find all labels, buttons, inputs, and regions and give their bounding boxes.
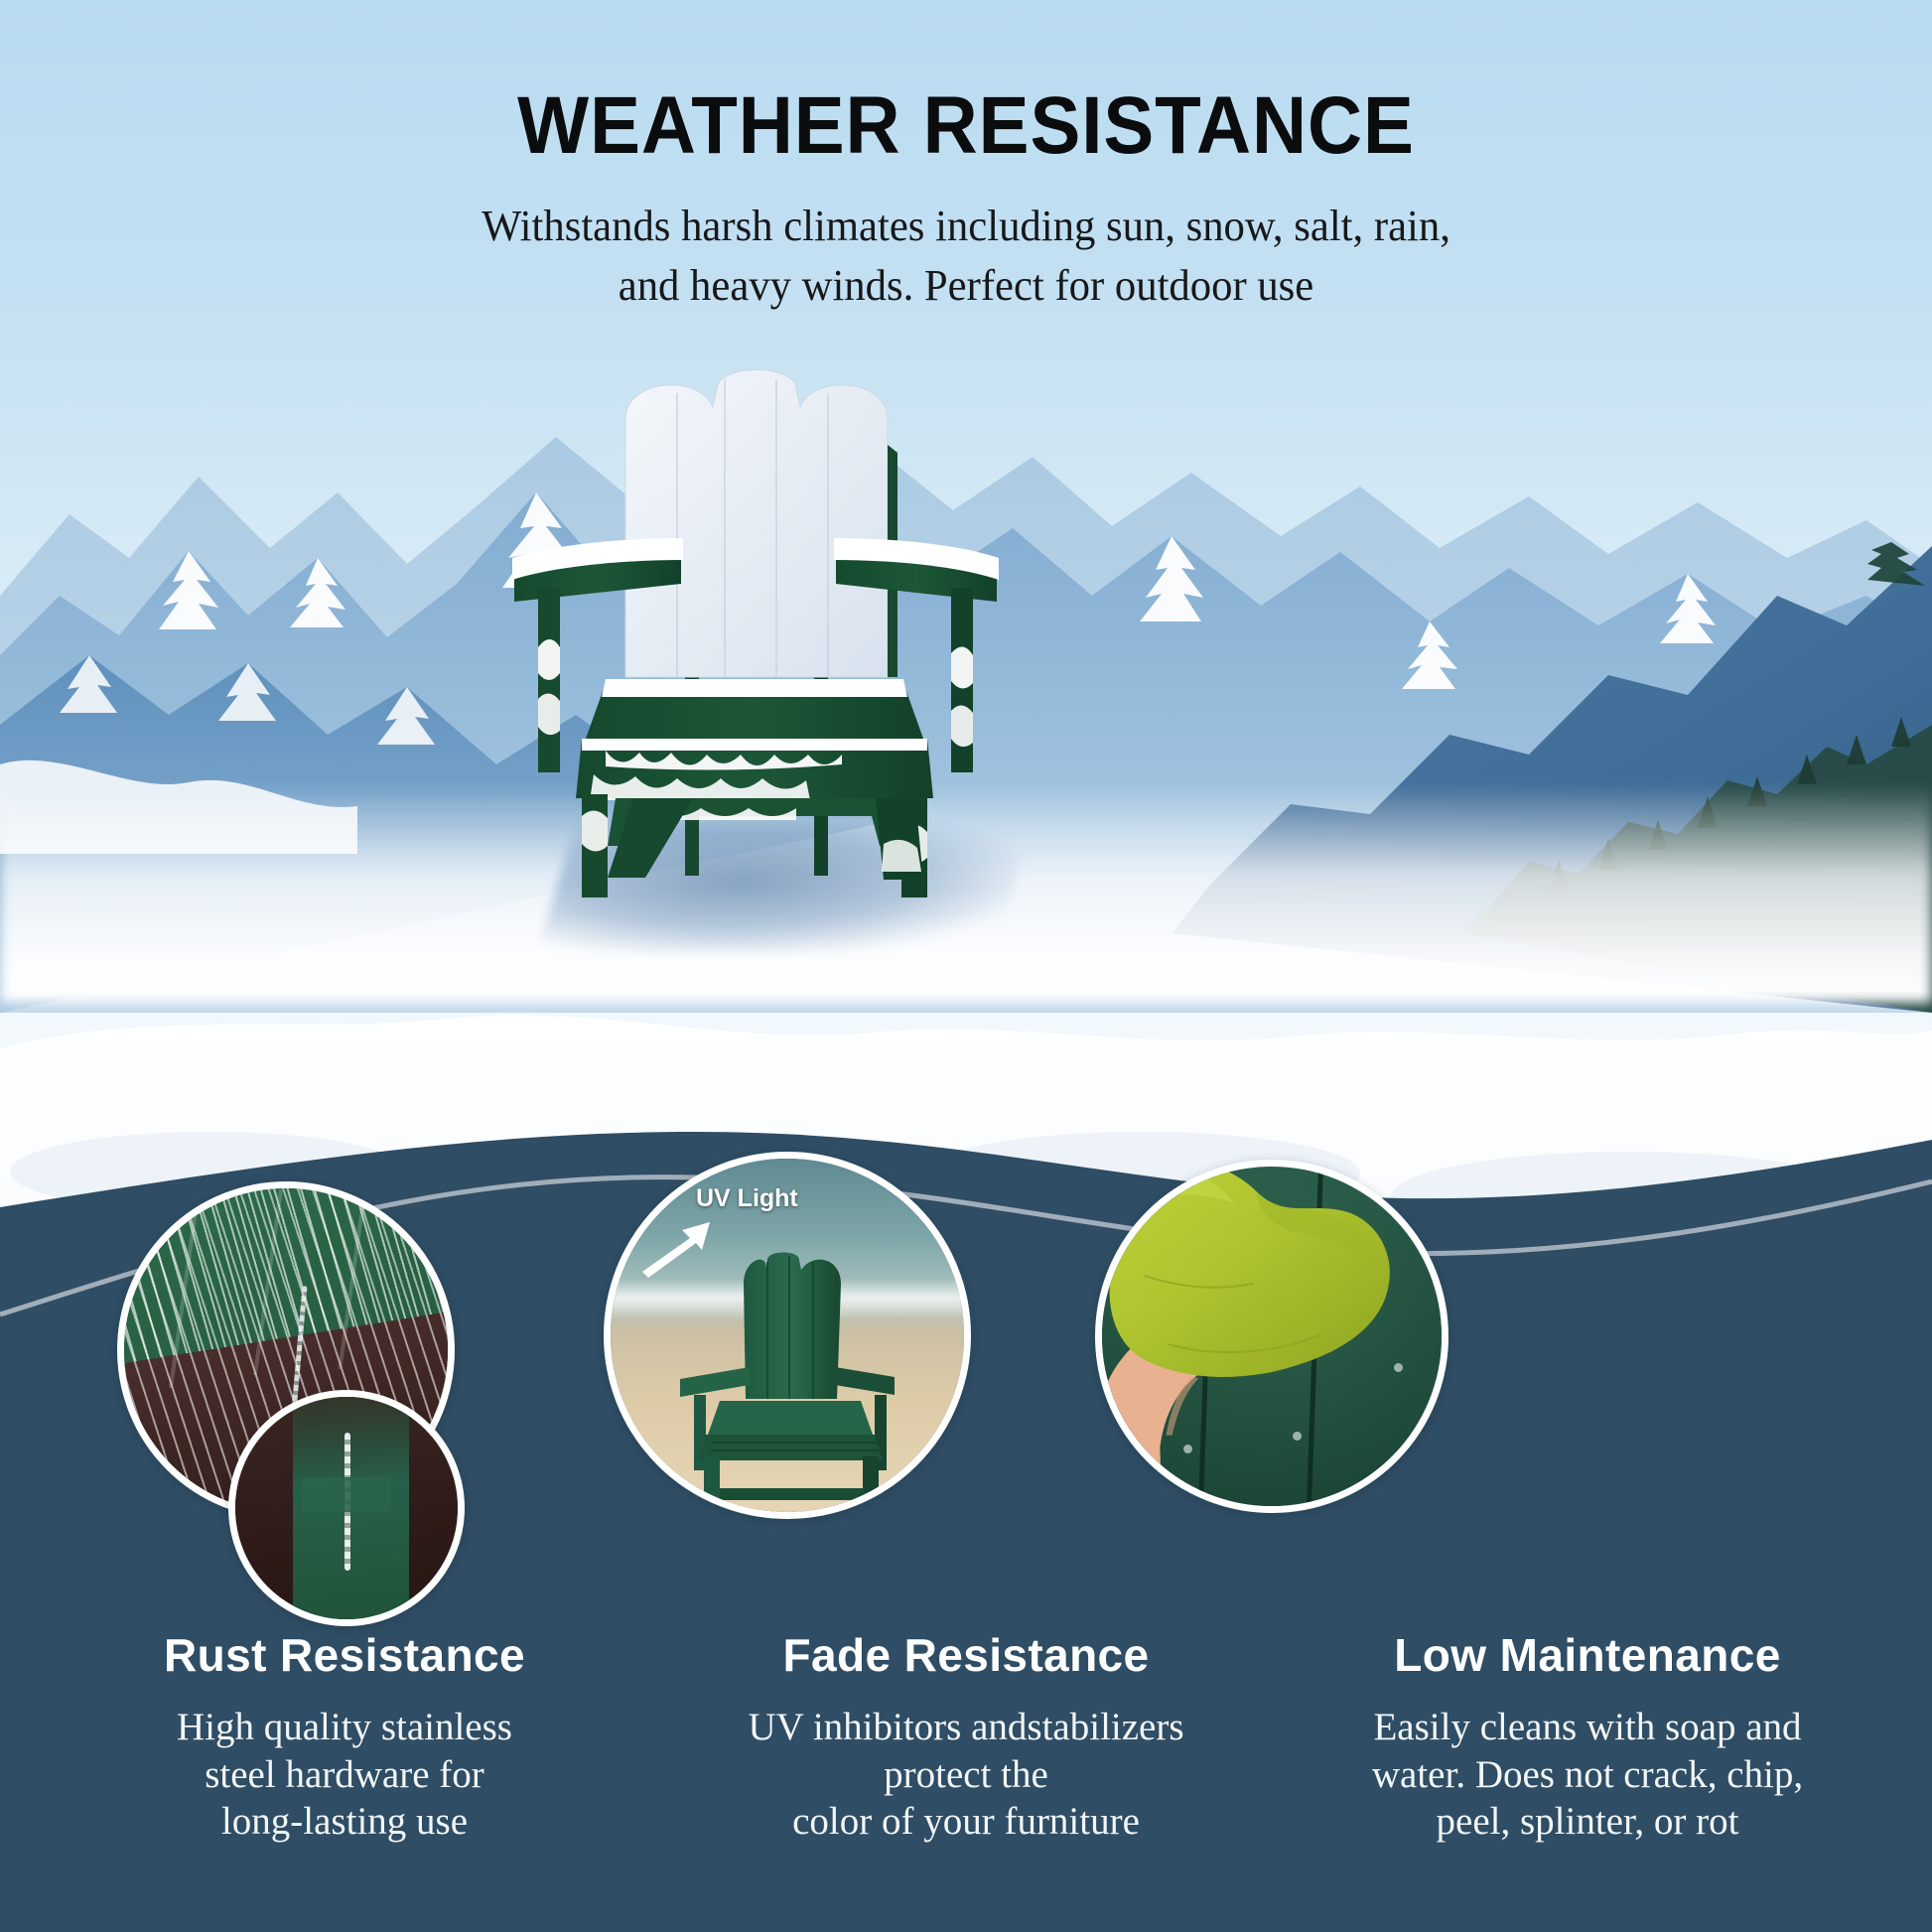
callout-image-fade: UV Light [604, 1152, 971, 1519]
feature-body-line: peel, splinter, or rot [1285, 1798, 1890, 1846]
bracket [302, 1477, 391, 1513]
infographic-canvas: WEATHER RESISTANCE Withstands harsh clim… [0, 0, 1932, 1932]
subtitle-line-1: Withstands harsh climates including sun,… [29, 197, 1903, 256]
feature-title-fade: Fade Resistance [663, 1628, 1269, 1682]
feature-maintenance: Low Maintenance Easily cleans with soap … [1285, 1628, 1890, 1846]
feature-title-maintenance: Low Maintenance [1285, 1628, 1890, 1682]
feature-body-line: color of your furniture [663, 1798, 1269, 1846]
feature-body-line: UV inhibitors andstabilizers [663, 1704, 1269, 1751]
feature-body-maintenance: Easily cleans with soap and water. Does … [1285, 1704, 1890, 1846]
feature-title-rust: Rust Resistance [42, 1628, 647, 1682]
beach-chair [650, 1250, 918, 1519]
snow-covered-chair [486, 349, 1023, 905]
feature-body-line: long-lasting use [42, 1798, 647, 1846]
uv-light-annotation: UV Light [696, 1184, 798, 1213]
feature-body-line: Easily cleans with soap and [1285, 1704, 1890, 1751]
feature-body-line: water. Does not crack, chip, [1285, 1751, 1890, 1799]
page-title: WEATHER RESISTANCE [68, 85, 1864, 167]
beach-scene: UV Light [611, 1159, 964, 1512]
feature-body-line: protect the [663, 1751, 1269, 1799]
feature-list: Rust Resistance High quality stainless s… [0, 1628, 1932, 1846]
uv-arrow-icon [638, 1216, 730, 1284]
feature-body-line: High quality stainless [42, 1704, 647, 1751]
feature-rust: Rust Resistance High quality stainless s… [42, 1628, 647, 1846]
callout-image-rust-detail [228, 1390, 465, 1626]
feature-fade: Fade Resistance UV inhibitors andstabili… [663, 1628, 1269, 1846]
feature-body-fade: UV inhibitors andstabilizers protect the… [663, 1704, 1269, 1846]
feature-body-line: steel hardware for [42, 1751, 647, 1799]
hardware-closeup [235, 1397, 458, 1619]
page-subtitle: Withstands harsh climates including sun,… [29, 197, 1903, 316]
deck-scene [1102, 1167, 1442, 1506]
subtitle-line-2: and heavy winds. Perfect for outdoor use [29, 256, 1903, 316]
uv-light-label: UV Light [696, 1184, 798, 1213]
microfiber-cloth [1109, 1160, 1449, 1445]
header-block: WEATHER RESISTANCE Withstands harsh clim… [0, 0, 1932, 316]
callout-image-maintenance [1095, 1160, 1449, 1513]
feature-body-rust: High quality stainless steel hardware fo… [42, 1704, 647, 1846]
